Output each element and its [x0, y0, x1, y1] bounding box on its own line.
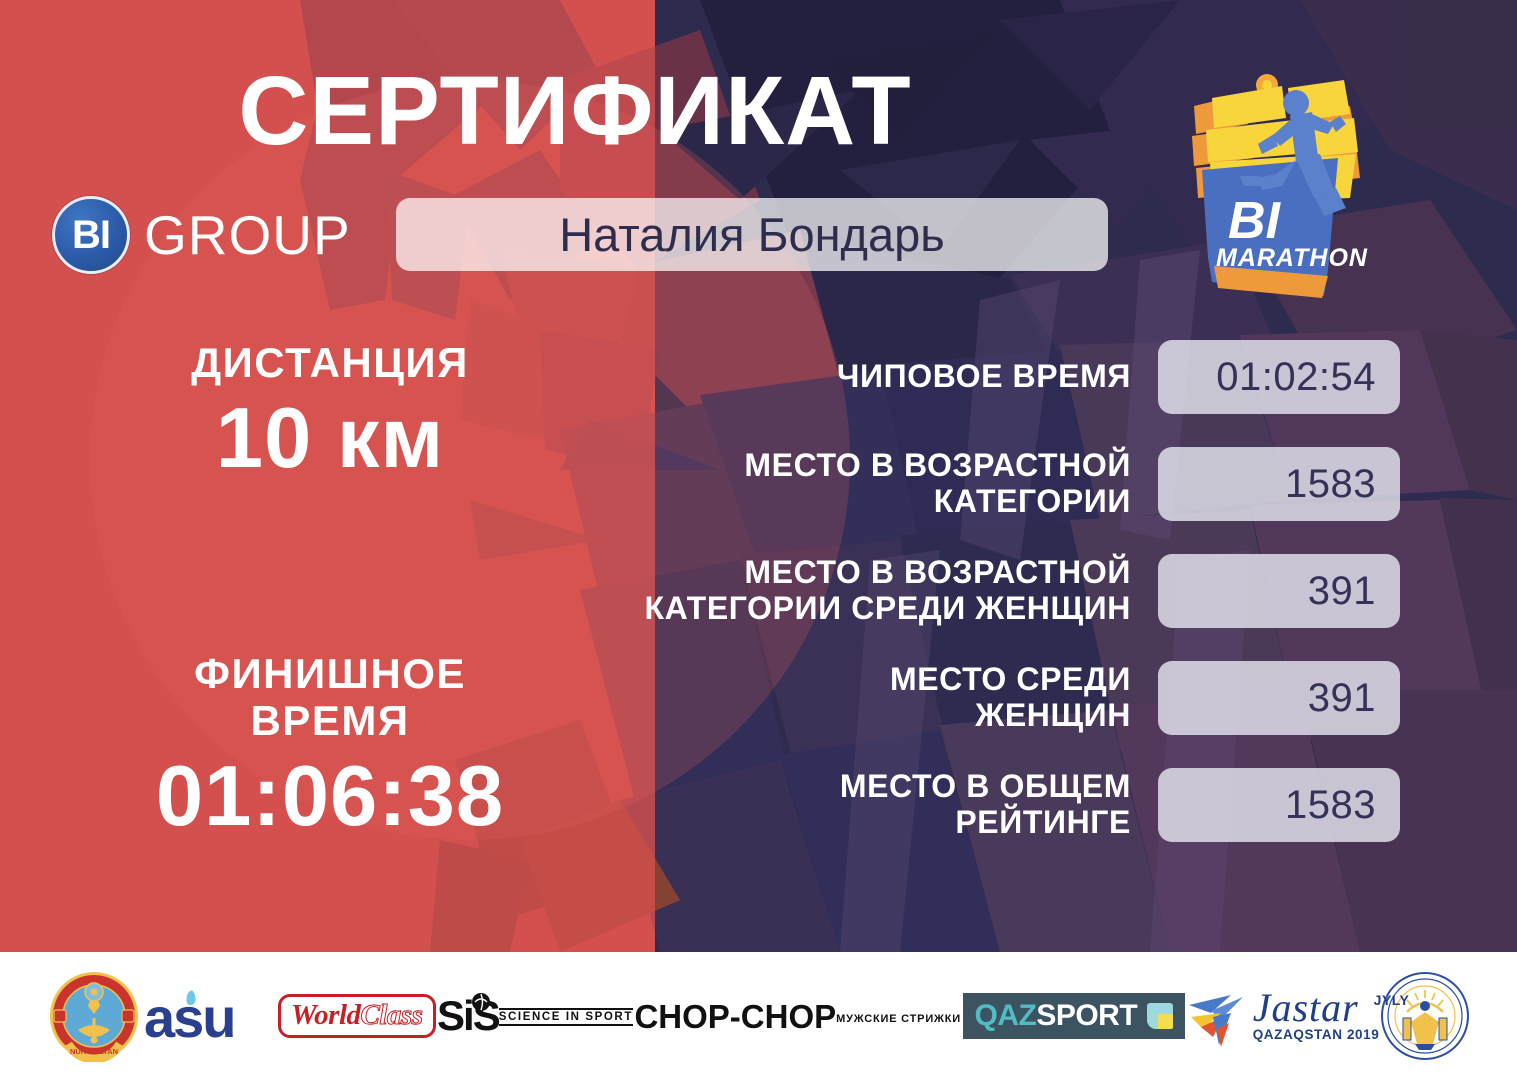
sis-tagline: SCIENCE IN SPORT: [499, 1008, 633, 1026]
sponsor-sis: SiS SCIENCE IN SPORT: [437, 996, 633, 1036]
sponsor-bar: NUR-SULTAN asu WorldClass SiS: [0, 952, 1517, 1080]
stat-row: МЕСТО В ВОЗРАСТНОЙ КАТЕГОРИИ 1583: [520, 447, 1400, 521]
stat-row: МЕСТО В ОБЩЕМ РЕЙТИНГЕ 1583: [520, 768, 1400, 842]
athlete-name-field: Наталия Бондарь: [396, 198, 1108, 271]
certificate-card: СЕРТИФИКАТ BI GROUP Наталия Бондарь: [0, 0, 1517, 1080]
stat-value: 1583: [1285, 783, 1376, 828]
stat-row: ЧИПОВОЕ ВРЕМЯ 01:02:54: [520, 340, 1400, 414]
chop-chop-wordmark: CHOP-CHOP: [634, 1000, 836, 1033]
jastar-wordmark: Jastar: [1253, 985, 1359, 1030]
distance-block: ДИСТАНЦИЯ 10 км: [60, 340, 600, 483]
sponsor-chop-chop: CHOP-CHOP МУЖСКИЕ СТРИЖКИ: [634, 1000, 961, 1033]
bi-mark-icon: BI: [52, 196, 130, 274]
certificate-content: СЕРТИФИКАТ BI GROUP Наталия Бондарь: [0, 0, 1517, 952]
finish-time-label: ФИНИШНОЕ ВРЕМЯ: [60, 651, 600, 743]
stat-label: МЕСТО В ОБЩЕМ РЕЙТИНГЕ: [520, 769, 1158, 841]
nur-sultan-emblem-icon: NUR-SULTAN: [48, 970, 140, 1062]
qazsport-box: QAZSPORT: [963, 993, 1186, 1039]
stat-value-box: 01:02:54: [1158, 340, 1400, 414]
world-class-wordmark: WorldClass: [291, 1001, 422, 1030]
stat-row: МЕСТО В ВОЗРАСТНОЙ КАТЕГОРИИ СРЕДИ ЖЕНЩИ…: [520, 554, 1400, 628]
stat-label: МЕСТО СРЕДИ ЖЕНЩИН: [520, 662, 1158, 734]
bi-mark-label: BI: [72, 215, 110, 255]
world-class-text-a: World: [291, 999, 360, 1031]
bi-group-wordmark: GROUP: [144, 203, 351, 267]
stat-label: МЕСТО В ВОЗРАСТНОЙ КАТЕГОРИИ: [520, 448, 1158, 520]
distance-value: 10 км: [60, 394, 600, 483]
jastar-jyly-label: JYLY: [1374, 992, 1410, 1008]
jastar-bird-icon: [1187, 983, 1249, 1049]
stat-label: ЧИПОВОЕ ВРЕМЯ: [520, 359, 1158, 395]
world-class-box: WorldClass: [278, 994, 435, 1038]
qazsport-mark-icon: [1147, 1003, 1173, 1029]
sponsor-world-class: WorldClass: [278, 994, 435, 1038]
chop-chop-tagline: МУЖСКИЕ СТРИЖКИ: [836, 1013, 961, 1025]
ministry-emblem-icon: [1381, 972, 1469, 1060]
stat-value: 01:02:54: [1216, 355, 1376, 400]
jastar-text-wrap: Jastar JYLY: [1253, 990, 1380, 1026]
stats-list: ЧИПОВОЕ ВРЕМЯ 01:02:54 МЕСТО В ВОЗРАСТНО…: [520, 340, 1400, 842]
sponsor-asu: asu: [142, 983, 277, 1049]
distance-label: ДИСТАНЦИЯ: [60, 340, 600, 386]
athlete-name: Наталия Бондарь: [559, 207, 945, 262]
bi-marathon-logo: BI MARATHON: [1178, 58, 1378, 304]
sponsor-ministry-emblem: [1381, 972, 1469, 1060]
page-title: СЕРТИФИКАТ: [0, 62, 1150, 159]
stat-value: 391: [1308, 569, 1376, 614]
stat-value: 1583: [1285, 462, 1376, 507]
stat-value-box: 391: [1158, 554, 1400, 628]
asu-logo-icon: asu: [142, 983, 277, 1049]
stat-value-box: 391: [1158, 661, 1400, 735]
nur-sultan-label: NUR-SULTAN: [70, 1047, 118, 1056]
bi-marathon-logo-icon: BI MARATHON: [1178, 58, 1378, 304]
stat-value: 391: [1308, 676, 1376, 721]
qazsport-wordmark: QAZSPORT: [975, 1001, 1138, 1031]
stat-label: МЕСТО В ВОЗРАСТНОЙ КАТЕГОРИИ СРЕДИ ЖЕНЩИ…: [520, 555, 1158, 627]
distance-and-finish-block: ДИСТАНЦИЯ 10 км ФИНИШНОЕ ВРЕМЯ 01:06:38: [60, 340, 600, 841]
svg-text:BI: BI: [1228, 192, 1282, 250]
finish-time-value: 01:06:38: [60, 752, 600, 841]
svg-text:MARATHON: MARATHON: [1216, 244, 1368, 272]
sponsor-qazsport: QAZSPORT: [963, 993, 1186, 1039]
stat-value-box: 1583: [1158, 447, 1400, 521]
sponsor-jastar-jyly: Jastar JYLY QAZAQSTAN 2019: [1187, 983, 1380, 1049]
sis-ball-icon: [471, 992, 491, 1012]
finish-time-block: ФИНИШНОЕ ВРЕМЯ 01:06:38: [60, 651, 600, 841]
qazsport-text-a: QAZ: [975, 999, 1037, 1032]
qazsport-text-b: SPORT: [1036, 999, 1137, 1032]
svg-text:asu: asu: [144, 986, 235, 1049]
stat-value-box: 1583: [1158, 768, 1400, 842]
bi-group-logo: BI GROUP: [52, 196, 351, 274]
sponsor-nur-sultan-emblem: NUR-SULTAN: [48, 970, 140, 1062]
stat-row: МЕСТО СРЕДИ ЖЕНЩИН 391: [520, 661, 1400, 735]
world-class-text-b: Class: [361, 999, 423, 1031]
